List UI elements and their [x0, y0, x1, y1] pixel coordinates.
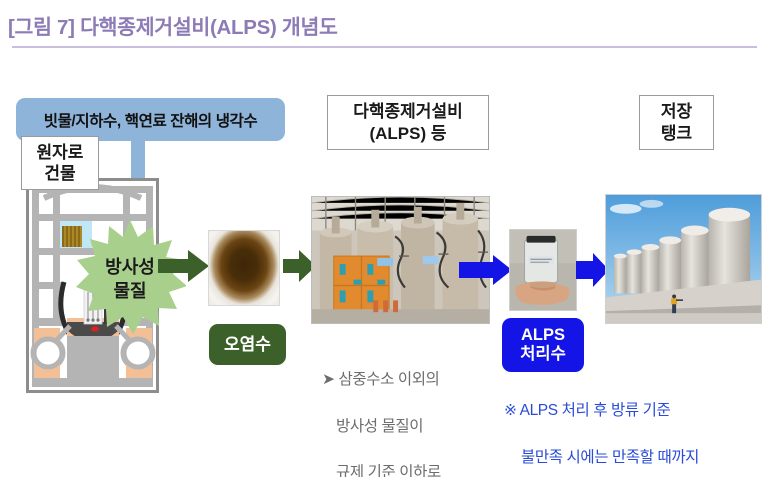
source-water-label: 빗물/지하수, 핵연료 잔해의 냉각수 — [44, 109, 258, 131]
alps-facility-label: 다핵종제거설비 (ALPS) 등 — [327, 95, 489, 150]
reactor-label-line-2: 건물 — [37, 163, 84, 184]
discharge-note-line-2: 불만족 시에는 만족할 때까지 — [504, 446, 770, 469]
page-title: [그림 7] 다핵종제거설비(ALPS) 개념도 — [8, 10, 338, 40]
alps-note-line-2: 방사성 물질이 — [322, 415, 504, 438]
alps-note-line-1: ➤ 삼중수소 이외의 — [322, 368, 504, 391]
flow-arrow-blue-1 — [459, 255, 513, 285]
discharge-reprocess-note: ※ ALPS 처리 후 방류 기준 불만족 시에는 만족할 때까지 재처리 반복 — [504, 376, 770, 477]
alps-label-line-2: (ALPS) 등 — [353, 123, 462, 144]
alps-note-line-3: 규제 기준 이하로 — [322, 461, 504, 477]
treated-water-jar-photo — [509, 229, 577, 311]
reactor-building-label: 원자로 건물 — [21, 136, 99, 190]
contaminated-water-label: 오염수 — [209, 324, 286, 365]
title-divider — [12, 46, 757, 48]
reactor-label-line-1: 원자로 — [37, 142, 84, 163]
contaminated-water-photo — [208, 230, 280, 306]
alps-treated-line-2: 처리수 — [520, 345, 566, 364]
source-water-callout: 빗물/지하수, 핵연료 잔해의 냉각수 — [16, 98, 285, 141]
alps-purification-note-text: ➤ 삼중수소 이외의 방사성 물질이 규제 기준 이하로 내려갈 때까지 정화 — [322, 345, 504, 477]
tank-label-line-2: 탱크 — [661, 123, 692, 144]
alps-treated-line-1: ALPS — [520, 326, 566, 345]
storage-tank-label: 저장 탱크 — [639, 95, 714, 150]
discharge-note-line-1: ※ ALPS 처리 후 방류 기준 — [504, 399, 770, 422]
burst-line-1: 방사성 — [105, 257, 155, 277]
alps-label-line-1: 다핵종제거설비 — [353, 101, 462, 122]
flow-arrow-green-1 — [158, 249, 210, 283]
storage-tanks-photo — [605, 194, 762, 324]
burst-line-2: 물질 — [113, 281, 146, 301]
figure-canvas: [그림 7] 다핵종제거설비(ALPS) 개념도 빗물/지하수, 핵연료 잔해의… — [0, 0, 773, 477]
tank-label-line-1: 저장 — [661, 101, 692, 122]
alps-treated-water-label: ALPS 처리수 — [502, 318, 584, 372]
